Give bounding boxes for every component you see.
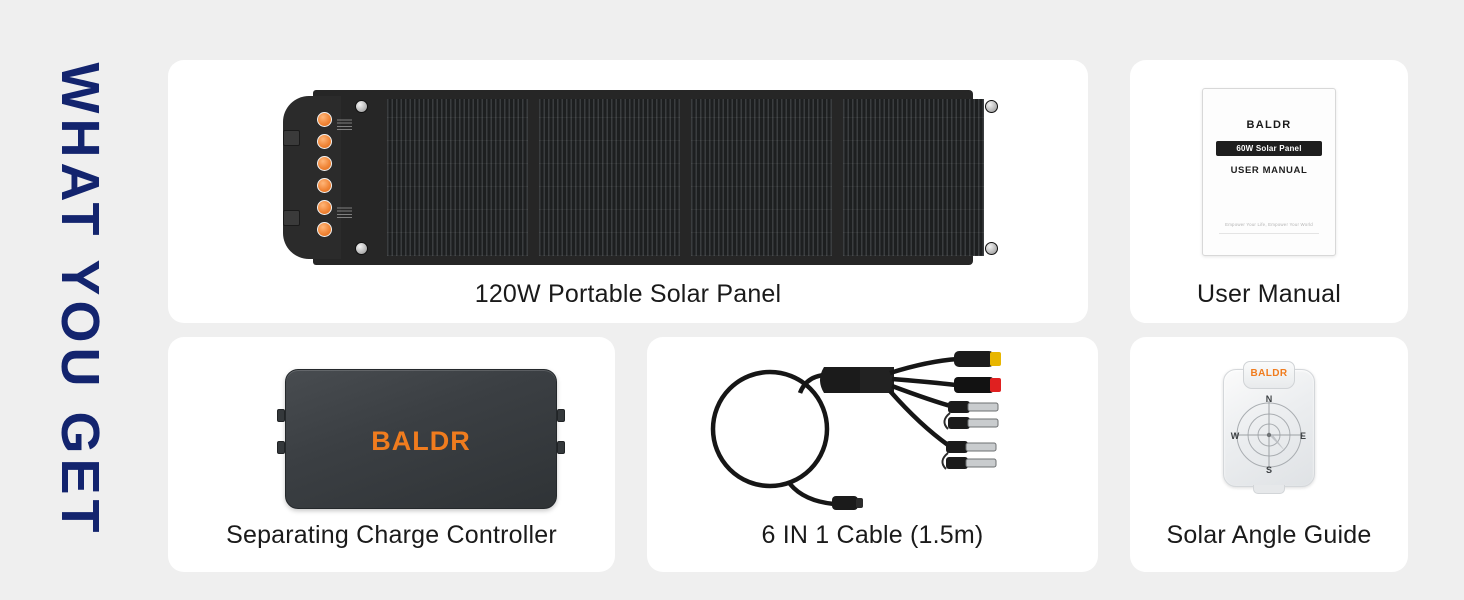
grommet-bottom-right xyxy=(985,242,998,255)
cable-connector-6-body xyxy=(946,457,968,469)
panel-icon-2 xyxy=(317,134,332,149)
panel-icon-1 xyxy=(317,112,332,127)
panel-icon-3 xyxy=(317,156,332,171)
manual-brand-logo: BALDR xyxy=(1203,119,1335,131)
cable-connector-3-body xyxy=(948,401,970,413)
card-label-solar-panel: 120W Portable Solar Panel xyxy=(168,280,1088,309)
solar-panel-section-3 xyxy=(691,99,832,256)
compass-pivot xyxy=(1267,433,1271,437)
cable-connector-2-tip xyxy=(990,378,1001,392)
panel-strap-tab-top xyxy=(283,130,300,146)
manual-model-band: 60W Solar Panel xyxy=(1216,141,1322,156)
solar-panel-section-1 xyxy=(387,99,528,256)
cable-connector-2-body xyxy=(954,377,994,393)
compass-label-west: W xyxy=(1231,431,1240,441)
cable-splitter-neck xyxy=(860,367,894,393)
cable-connector-4-barrel xyxy=(968,419,998,427)
solar-panel-body xyxy=(313,90,973,265)
cable-end-connector xyxy=(832,496,858,510)
cable-connector-5-barrel xyxy=(966,443,996,451)
manual-divider xyxy=(1219,233,1319,234)
vertical-headline: WHAT YOU GET xyxy=(0,0,160,600)
panel-icon-6 xyxy=(317,222,332,237)
panel-spec-lines-bottom xyxy=(337,206,352,218)
controller-port-right-2 xyxy=(557,441,565,454)
controller-port-left-2 xyxy=(277,441,285,454)
angle-guide-foot xyxy=(1253,485,1285,494)
compass-label-south: S xyxy=(1266,465,1272,475)
card-charge-controller[interactable]: BALDR Separating Charge Controller xyxy=(168,337,615,572)
grommet-bottom-left xyxy=(355,242,368,255)
product-contents-grid: 120W Portable Solar Panel BALDR 60W Sola… xyxy=(168,60,1408,572)
card-solar-panel[interactable]: 120W Portable Solar Panel xyxy=(168,60,1088,323)
grommet-top-left xyxy=(355,100,368,113)
solar-panel-section-2 xyxy=(539,99,680,256)
panel-spec-lines-top xyxy=(337,118,352,130)
card-label-cable: 6 IN 1 Cable (1.5m) xyxy=(647,521,1098,550)
compass-label-east: E xyxy=(1300,431,1306,441)
controller-brand-logo: BALDR xyxy=(286,426,556,457)
angle-guide-brand-logo: BALDR xyxy=(1217,368,1321,379)
compass-shadow-pointer xyxy=(1269,435,1285,451)
headline-text: WHAT YOU GET xyxy=(49,63,111,538)
manual-tagline: Empower Your Life, Empower Your World xyxy=(1203,222,1335,227)
compass-label-north: N xyxy=(1266,395,1273,404)
card-label-charge-controller: Separating Charge Controller xyxy=(168,521,615,550)
card-angle-guide[interactable]: BALDR N E S W xyxy=(1130,337,1408,572)
cable-connector-1-tip xyxy=(990,352,1001,366)
panel-icon-5 xyxy=(317,200,332,215)
solar-panel-section-4 xyxy=(843,99,984,256)
card-user-manual[interactable]: BALDR 60W Solar Panel USER MANUAL Empowe… xyxy=(1130,60,1408,323)
controller-housing: BALDR xyxy=(285,369,557,509)
compass-dial: N E S W xyxy=(1229,395,1309,475)
solar-panel-left-flap xyxy=(283,96,341,259)
manual-cover: BALDR 60W Solar Panel USER MANUAL Empowe… xyxy=(1202,88,1336,256)
manual-subtitle: USER MANUAL xyxy=(1203,165,1335,176)
controller-port-left-1 xyxy=(277,409,285,422)
cable-tail xyxy=(790,484,834,504)
cable-branch-4 xyxy=(890,391,948,445)
card-cable[interactable]: 6 IN 1 Cable (1.5m) xyxy=(647,337,1098,572)
cable-connector-3-barrel xyxy=(968,403,998,411)
controller-port-right-1 xyxy=(557,409,565,422)
cable-connector-6-barrel xyxy=(966,459,996,467)
cable-end-tip xyxy=(856,498,863,508)
cable-diagram xyxy=(682,349,1062,521)
cable-coil xyxy=(713,372,827,486)
card-label-angle-guide: Solar Angle Guide xyxy=(1130,521,1408,550)
cable-connector-4-body xyxy=(948,417,970,429)
cable-splitter xyxy=(820,367,862,393)
panel-icon-4 xyxy=(317,178,332,193)
grommet-top-right xyxy=(985,100,998,113)
cable-branch-1 xyxy=(890,359,958,373)
card-label-user-manual: User Manual xyxy=(1130,280,1408,309)
panel-strap-tab-bottom xyxy=(283,210,300,226)
cable-connector-5-body xyxy=(946,441,968,453)
cable-branch-2 xyxy=(892,379,956,385)
cable-connector-1-body xyxy=(954,351,994,367)
